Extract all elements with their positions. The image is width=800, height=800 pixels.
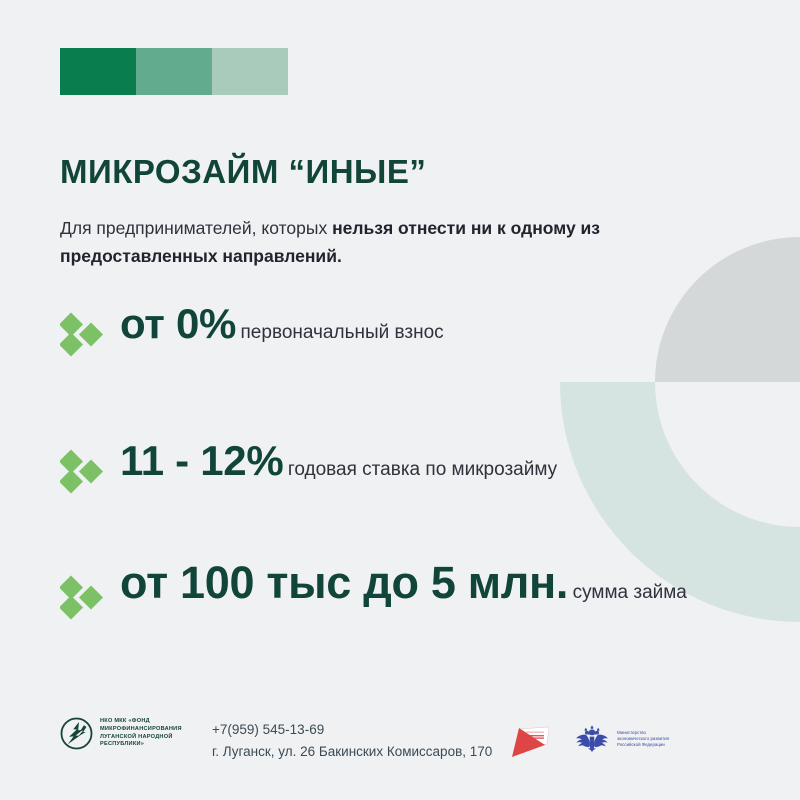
infographic-poster: МИКРОЗАЙМ “ИНЫЕ” Для предпринимателей, к… bbox=[0, 0, 800, 800]
contact-phone[interactable]: +7(959) 545-13-69 bbox=[212, 719, 492, 741]
feature-text-block: от 0% первоначальный взнос bbox=[120, 303, 444, 345]
feature-label: годовая ставка по микрозайму bbox=[288, 459, 557, 480]
feature-text-block: от 100 тыс до 5 млн. сумма займа bbox=[120, 560, 687, 605]
feature-value: от 100 тыс до 5 млн. bbox=[120, 557, 568, 608]
government-logo-text: Министерство экономического развития Рос… bbox=[617, 730, 669, 749]
diamond-cluster-icon bbox=[60, 309, 106, 361]
fund-logo-line-2: МИКРОФИНАНСИРОВАНИЯ bbox=[100, 726, 182, 734]
fund-logo: НКО МКК «ФОНД МИКРОФИНАНСИРОВАНИЯ ЛУГАНС… bbox=[60, 717, 182, 750]
feature-label: сумма займа bbox=[573, 582, 687, 603]
my-business-flag-icon bbox=[509, 719, 553, 761]
government-logo-line-3: Российской Федерации bbox=[617, 742, 669, 748]
government-logo: Министерство экономического развития Рос… bbox=[573, 720, 669, 758]
page-title: МИКРОЗАЙМ “ИНЫЕ” bbox=[60, 153, 426, 191]
feature-text-block: 11 - 12% годовая ставка по микрозайму bbox=[120, 440, 557, 482]
fund-logo-text: НКО МКК «ФОНД МИКРОФИНАНСИРОВАНИЯ ЛУГАНС… bbox=[100, 718, 182, 748]
brand-square-mid bbox=[136, 48, 212, 95]
brand-square-light bbox=[212, 48, 288, 95]
diamond-cluster-icon bbox=[60, 572, 106, 624]
diamond-cluster-icon bbox=[60, 446, 106, 498]
fund-emblem-icon bbox=[60, 717, 93, 750]
feature-row-initial-payment: от 0% первоначальный взнос bbox=[60, 303, 444, 361]
feature-value: от 0% bbox=[120, 300, 236, 347]
fund-logo-line-3: ЛУГАНСКОЙ НАРОДНОЙ bbox=[100, 734, 182, 742]
brand-square-strip bbox=[60, 48, 288, 95]
fund-logo-line-1: НКО МКК «ФОНД bbox=[100, 718, 182, 726]
feature-label: первоначальный взнос bbox=[241, 322, 444, 343]
brand-square-dark bbox=[60, 48, 136, 95]
footer: НКО МКК «ФОНД МИКРОФИНАНСИРОВАНИЯ ЛУГАНС… bbox=[60, 705, 750, 775]
feature-row-annual-rate: 11 - 12% годовая ставка по микрозайму bbox=[60, 440, 557, 498]
feature-value: 11 - 12% bbox=[120, 437, 283, 484]
contact-address: г. Луганск, ул. 26 Бакинских Комиссаров,… bbox=[212, 741, 492, 763]
contact-block: +7(959) 545-13-69 г. Луганск, ул. 26 Бак… bbox=[212, 719, 492, 763]
page-subtitle: Для предпринимателей, которых нельзя отн… bbox=[60, 214, 720, 270]
subtitle-plain-text: Для предпринимателей, которых bbox=[60, 218, 332, 238]
feature-row-loan-amount: от 100 тыс до 5 млн. сумма займа bbox=[60, 560, 687, 624]
fund-logo-line-4: РЕСПУБЛИКИ» bbox=[100, 741, 182, 749]
russian-eagle-emblem-icon bbox=[573, 720, 611, 758]
